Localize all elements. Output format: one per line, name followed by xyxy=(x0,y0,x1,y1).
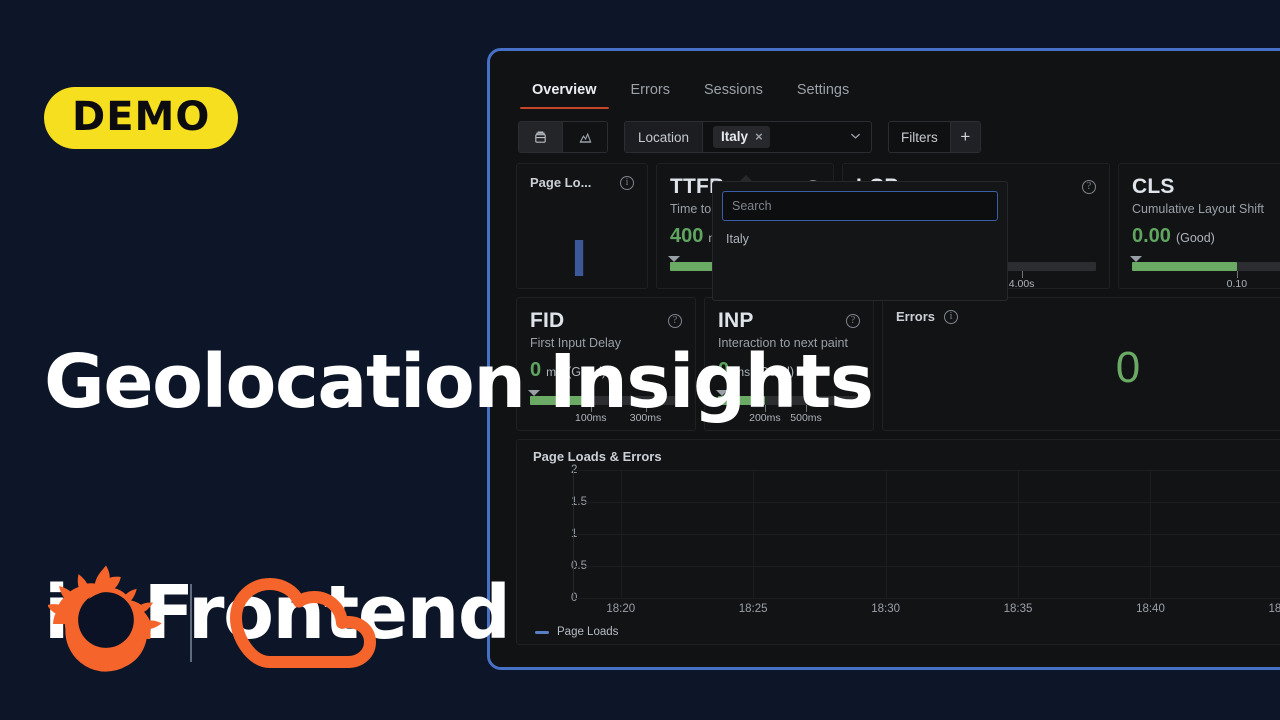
brand-divider xyxy=(190,584,192,662)
filters-label: Filters xyxy=(889,122,950,152)
view-toggle-group xyxy=(518,121,608,153)
location-chip[interactable]: Italy × xyxy=(713,126,770,148)
tab-settings[interactable]: Settings xyxy=(783,78,863,109)
location-filter-label: Location xyxy=(625,122,703,152)
panel-cls-subtitle: Cumulative Layout Shift xyxy=(1132,202,1280,216)
promo-overlay: DEMO Geolocation Insights in Frontend Ob… xyxy=(0,0,520,720)
panel-cls: CLS ? Cumulative Layout Shift 0.00 (Good… xyxy=(1118,163,1280,289)
panel-cls-gauge: 0.10 0.25 xyxy=(1132,256,1280,286)
tab-sessions[interactable]: Sessions xyxy=(690,78,777,109)
location-chip-label: Italy xyxy=(721,129,748,144)
panel-cls-title: CLS xyxy=(1132,175,1175,199)
x-tick-5: 18:45 xyxy=(1268,603,1280,615)
panel-cls-rating: (Good) xyxy=(1176,231,1215,245)
tab-errors-label: Errors xyxy=(631,82,670,98)
location-filter: Location Italy × xyxy=(624,121,872,153)
tab-settings-label: Settings xyxy=(797,82,849,98)
chevron-down-icon[interactable] xyxy=(850,131,861,143)
info-icon[interactable]: ? xyxy=(1082,180,1096,194)
tab-bar: Overview Errors Sessions Settings xyxy=(490,51,1280,109)
tab-errors[interactable]: Errors xyxy=(617,78,684,109)
cloud-icon xyxy=(218,564,378,681)
demo-badge: DEMO xyxy=(44,87,238,149)
info-icon[interactable]: i xyxy=(620,176,634,190)
demo-badge-label: DEMO xyxy=(72,97,210,137)
panel-cls-tick-0: 0.10 xyxy=(1227,278,1247,289)
grafana-logo-icon xyxy=(48,562,164,683)
tab-overview[interactable]: Overview xyxy=(518,78,611,109)
layers-icon[interactable] xyxy=(519,122,563,152)
panel-cls-value: 0.00 xyxy=(1132,225,1171,248)
page-title-line-1: Geolocation Insights xyxy=(44,344,1044,421)
x-tick-4: 18:40 xyxy=(1136,603,1165,615)
brand-row xyxy=(48,562,378,683)
tab-sessions-label: Sessions xyxy=(704,82,763,98)
close-icon[interactable]: × xyxy=(755,129,763,144)
area-chart-icon[interactable] xyxy=(563,122,607,152)
location-filter-field[interactable]: Italy × xyxy=(703,122,871,152)
tab-overview-label: Overview xyxy=(532,82,597,98)
filters-control: Filters + xyxy=(888,121,981,153)
filter-bar: Location Italy × Filters + xyxy=(490,109,1280,153)
add-filter-button[interactable]: + xyxy=(950,122,980,152)
panel-page-loads-title: Page Lo... xyxy=(530,175,591,190)
